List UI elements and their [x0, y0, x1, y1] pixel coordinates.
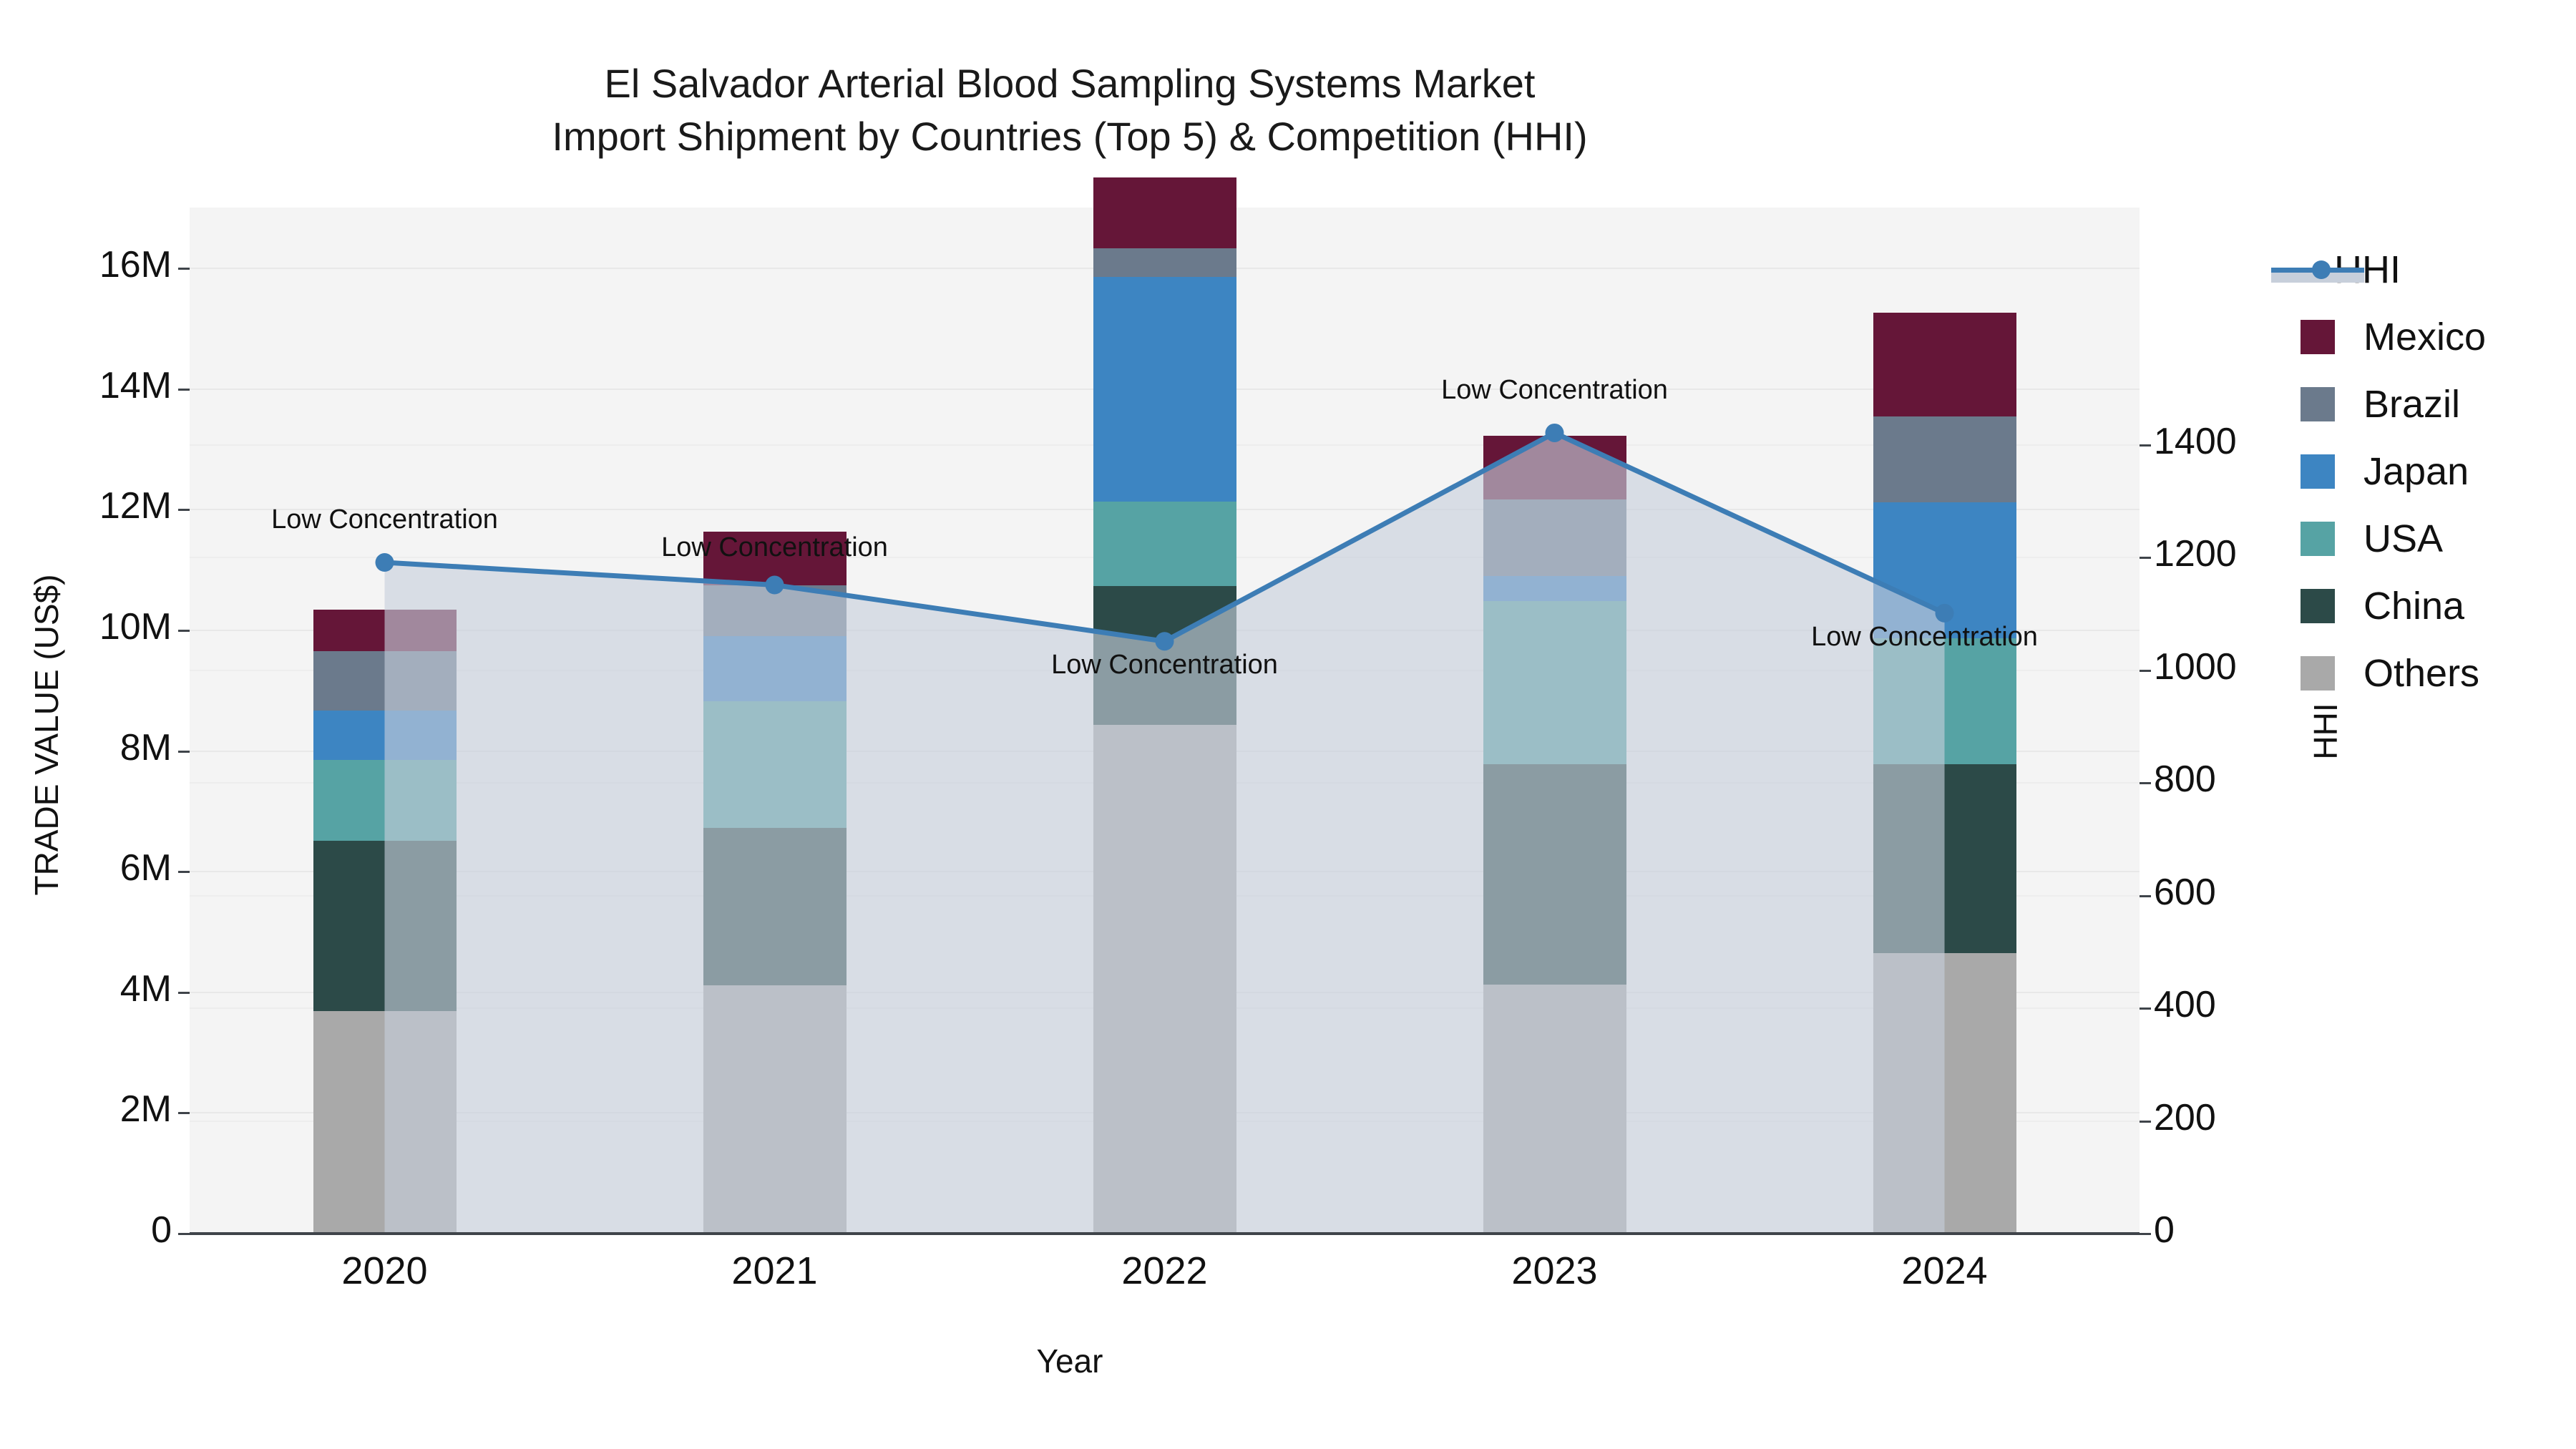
y-tick-left-mark: [178, 509, 190, 511]
y-tick-right-label: 0: [2154, 1209, 2326, 1252]
y-tick-right-label: 600: [2154, 871, 2326, 914]
x-axis-line: [190, 1232, 2140, 1235]
y-tick-left-label: 6M: [0, 847, 172, 889]
annotation-low-concentration: Low Concentration: [1051, 650, 1278, 680]
legend-swatch-icon: [2301, 387, 2335, 421]
y-tick-right-mark: [2140, 670, 2151, 672]
hhi-point[interactable]: [766, 576, 784, 595]
x-tick-label: 2022: [1058, 1249, 1272, 1293]
y-tick-right-mark: [2140, 444, 2151, 447]
legend-item-brazil[interactable]: Brazil: [2301, 371, 2486, 438]
chart-root: El Salvador Arterial Blood Sampling Syst…: [0, 0, 2576, 1449]
y-tick-right-mark: [2140, 1121, 2151, 1123]
legend-item-mexico[interactable]: Mexico: [2301, 303, 2486, 371]
y-tick-right-label: 1200: [2154, 532, 2326, 575]
y-tick-left-label: 16M: [0, 243, 172, 286]
y-axis-left-label: TRADE VALUE (US$): [27, 484, 66, 985]
legend-item-label: China: [2363, 587, 2464, 625]
x-axis-label: Year: [0, 1342, 2140, 1380]
y-tick-right-mark: [2140, 895, 2151, 897]
legend-item-others[interactable]: Others: [2301, 640, 2486, 707]
y-tick-left-mark: [178, 268, 190, 270]
y-tick-right-label: 1400: [2154, 420, 2326, 463]
y-tick-left-mark: [178, 992, 190, 994]
y-tick-right-mark: [2140, 1008, 2151, 1010]
legend-item-label: USA: [2363, 519, 2443, 558]
y-tick-left-label: 4M: [0, 967, 172, 1010]
legend-swatch-icon: [2301, 522, 2335, 556]
hhi-area: [385, 433, 1945, 1233]
hhi-line-layer: [190, 208, 2140, 1233]
y-tick-left-mark: [178, 1112, 190, 1114]
annotation-low-concentration: Low Concentration: [271, 504, 498, 535]
legend-item-label: Brazil: [2363, 385, 2460, 424]
hhi-point[interactable]: [1546, 424, 1564, 442]
hhi-point[interactable]: [376, 553, 394, 572]
hhi-point[interactable]: [1156, 632, 1174, 650]
y-tick-right-label: 400: [2154, 983, 2326, 1026]
y-tick-right-label: 1000: [2154, 645, 2326, 688]
y-tick-left-label: 10M: [0, 605, 172, 648]
legend-item-label: Others: [2363, 654, 2479, 693]
legend-line-marker-icon: [2271, 253, 2364, 287]
hhi-point[interactable]: [1936, 604, 1954, 623]
y-tick-left-label: 8M: [0, 726, 172, 769]
chart-title-line-1: El Salvador Arterial Blood Sampling Syst…: [0, 57, 2140, 110]
y-tick-right-label: 800: [2154, 758, 2326, 801]
legend-item-hhi[interactable]: HHI: [2301, 236, 2486, 303]
legend-swatch-icon: [2301, 656, 2335, 691]
legend-item-china[interactable]: China: [2301, 572, 2486, 640]
chart-title-line-2: Import Shipment by Countries (Top 5) & C…: [0, 110, 2140, 163]
x-tick-label: 2024: [1838, 1249, 2052, 1293]
chart-title: El Salvador Arterial Blood Sampling Syst…: [0, 57, 2140, 164]
annotation-low-concentration: Low Concentration: [661, 532, 888, 563]
y-tick-left-mark: [178, 751, 190, 753]
y-tick-right-mark: [2140, 557, 2151, 559]
legend-item-label: Mexico: [2363, 318, 2486, 356]
y-tick-right-label: 200: [2154, 1096, 2326, 1139]
y-tick-left-mark: [178, 1233, 190, 1235]
legend-swatch-icon: [2301, 589, 2335, 623]
legend-item-usa[interactable]: USA: [2301, 505, 2486, 572]
y-tick-left-label: 12M: [0, 484, 172, 527]
legend-item-label: Japan: [2363, 452, 2469, 491]
chart-legend: HHIMexicoBrazilJapanUSAChinaOthers: [2301, 236, 2486, 707]
y-tick-left-mark: [178, 389, 190, 391]
x-tick-label: 2023: [1448, 1249, 1662, 1293]
y-tick-left-label: 2M: [0, 1088, 172, 1131]
legend-item-japan[interactable]: Japan: [2301, 438, 2486, 505]
x-tick-label: 2020: [278, 1249, 492, 1293]
y-tick-right-mark: [2140, 1233, 2151, 1235]
y-tick-left-mark: [178, 871, 190, 873]
annotation-low-concentration: Low Concentration: [1811, 622, 2038, 653]
y-tick-left-label: 0: [0, 1209, 172, 1252]
y-tick-left-label: 14M: [0, 364, 172, 407]
legend-swatch-icon: [2301, 454, 2335, 489]
y-tick-right-mark: [2140, 782, 2151, 784]
legend-swatch-icon: [2301, 320, 2335, 354]
annotation-low-concentration: Low Concentration: [1441, 375, 1668, 406]
y-tick-left-mark: [178, 630, 190, 632]
x-tick-label: 2021: [668, 1249, 882, 1293]
